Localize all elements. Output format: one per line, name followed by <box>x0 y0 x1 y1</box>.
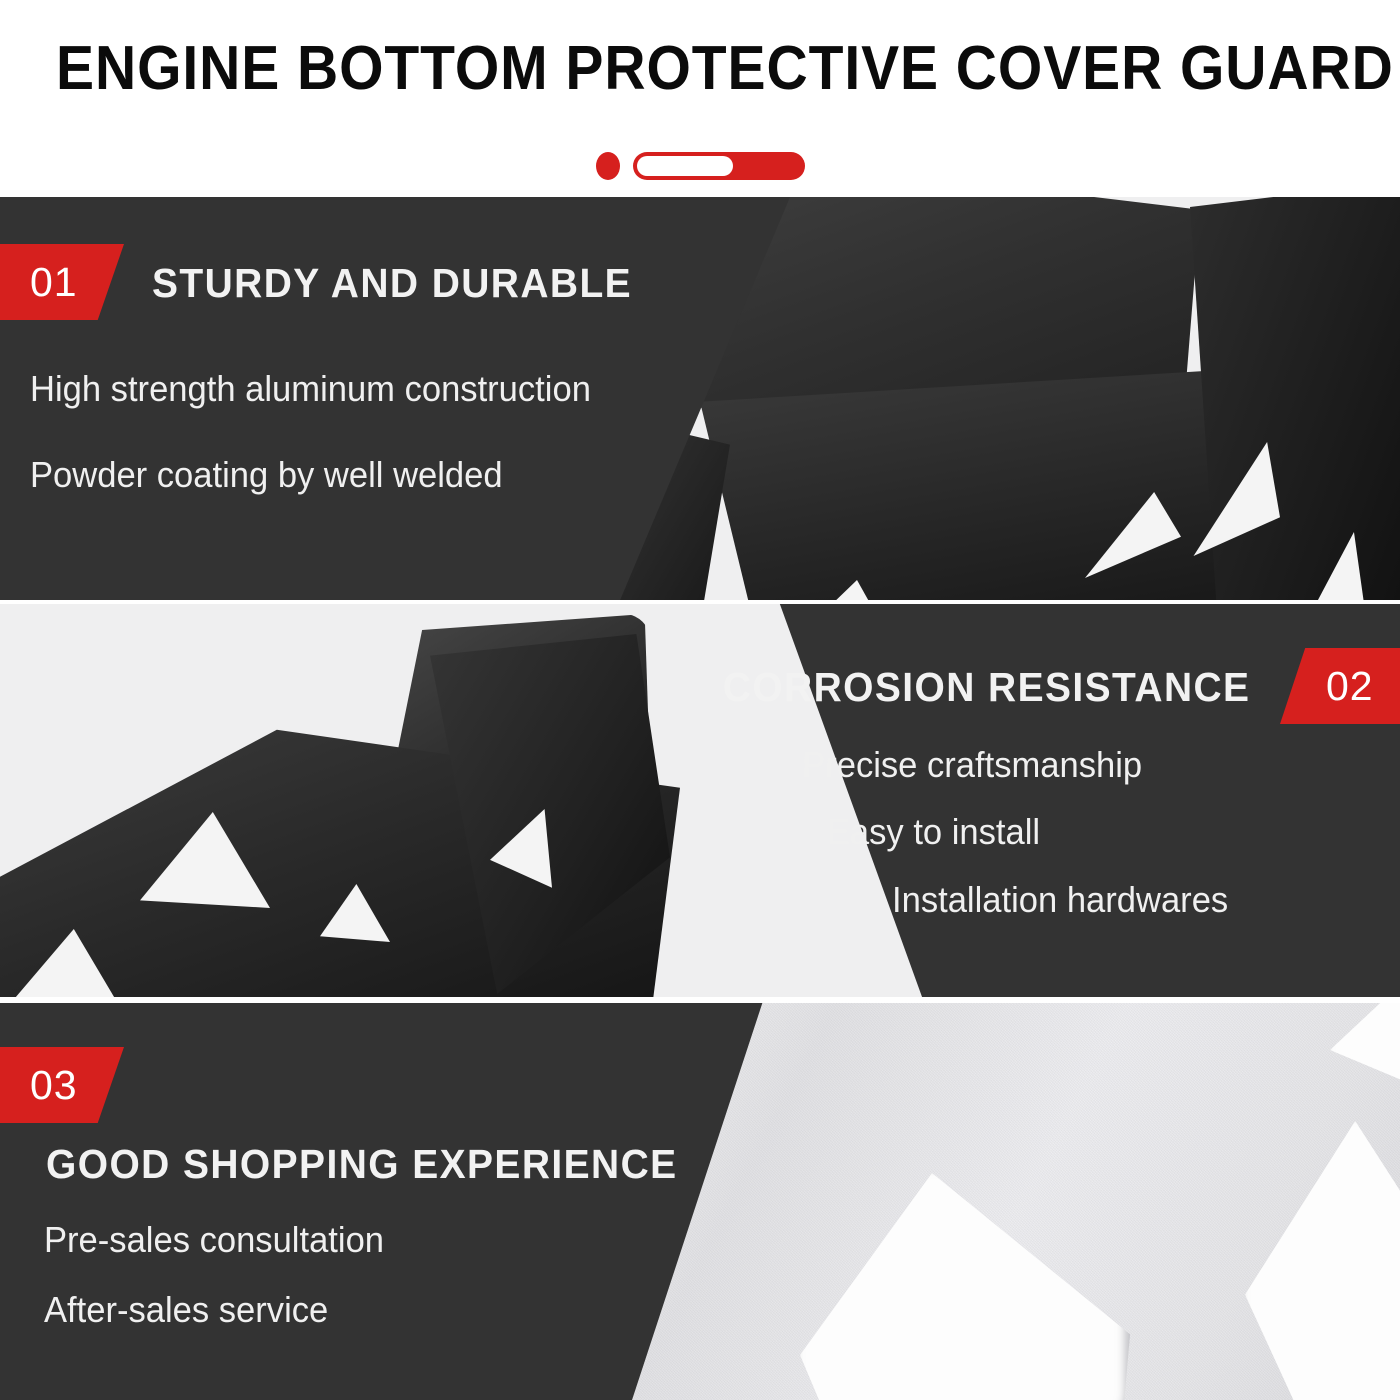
page-title: ENGINE BOTTOM PROTECTIVE COVER GUARD <box>56 34 1344 104</box>
section-02-number: 02 <box>1326 663 1374 710</box>
section-01-heading: STURDY AND DURABLE <box>152 260 632 307</box>
section-03-number: 03 <box>30 1062 78 1109</box>
feature-section-03: 03 GOOD SHOPPING EXPERIENCE Pre-sales co… <box>0 1003 1400 1400</box>
section-02-line-3: Installation hardwares <box>892 879 1228 921</box>
page-header: ENGINE BOTTOM PROTECTIVE COVER GUARD <box>0 0 1400 196</box>
divider-pill-inner-fill <box>637 156 733 176</box>
title-divider-ornament <box>0 152 1400 180</box>
section-01-line-2: Powder coating by well welded <box>30 454 503 496</box>
feature-section-02: 02 CORROSION RESISTANCE Precise craftsma… <box>0 604 1400 997</box>
divider-pill-icon <box>633 152 805 180</box>
section-02-line-2: Easy to install <box>827 811 1040 853</box>
section-03-line-1: Pre-sales consultation <box>44 1219 384 1261</box>
section-01-line-1: High strength aluminum construction <box>30 368 591 410</box>
section-03-heading: GOOD SHOPPING EXPERIENCE <box>46 1141 678 1188</box>
divider-dot-icon <box>596 152 620 180</box>
section-02-line-1: Precise craftsmanship <box>802 744 1142 786</box>
section-01-number: 01 <box>30 259 78 306</box>
section-03-line-2: After-sales service <box>44 1289 328 1331</box>
section-02-heading: CORROSION RESISTANCE <box>722 664 1250 711</box>
feature-section-01: 01 STURDY AND DURABLE High strength alum… <box>0 197 1400 600</box>
